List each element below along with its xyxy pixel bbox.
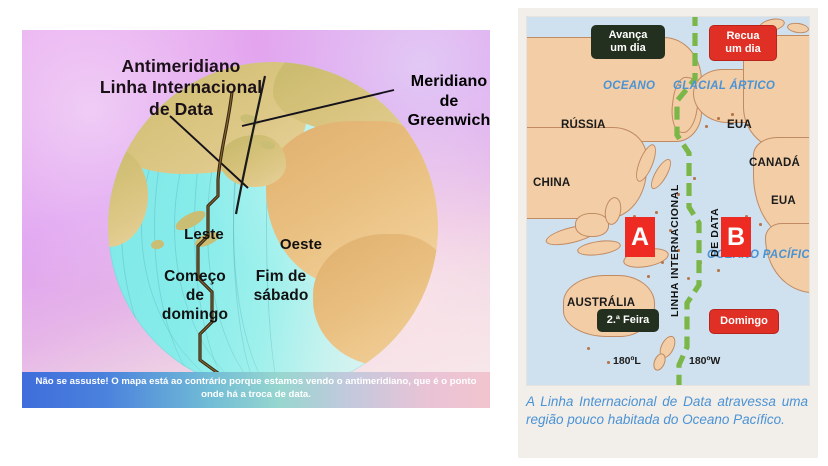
label-sunday-begins-line1: Começo bbox=[150, 268, 240, 287]
label-country-australia: AUSTRÁLIA bbox=[567, 297, 635, 309]
label-greenwich-line2: de bbox=[393, 92, 490, 112]
label-sunday-begins: Começo de domingo bbox=[150, 268, 240, 325]
label-dateline-vertical-1: LINHA INTERNACIONAL bbox=[669, 184, 681, 317]
label-saturday-ends-line2: sábado bbox=[238, 287, 324, 306]
label-arctic-ocean-1: OCEANO bbox=[603, 80, 655, 92]
marker-a: A bbox=[625, 217, 655, 257]
marker-b: B bbox=[721, 217, 751, 257]
label-country-usa-alaska: EUA bbox=[727, 119, 752, 131]
label-sunday-begins-line2: de bbox=[150, 287, 240, 306]
badge-advance-day: Avança um dia bbox=[591, 25, 665, 59]
label-country-china: CHINA bbox=[533, 177, 570, 189]
label-east: Leste bbox=[174, 226, 234, 244]
label-saturday-ends-line1: Fim de bbox=[238, 268, 324, 287]
badge-sunday-label: Domingo bbox=[717, 315, 771, 328]
label-antimeridian: Antimeridiano Linha Internacional de Dat… bbox=[66, 56, 296, 120]
label-greenwich-line1: Meridiano bbox=[393, 72, 490, 92]
label-country-canada: CANADÁ bbox=[749, 157, 800, 169]
label-country-usa-mainland: EUA bbox=[771, 195, 796, 207]
badge-retreat-day-line1: Recua bbox=[717, 30, 769, 43]
label-arctic-ocean-2: GLACIAL ÁRTICO bbox=[673, 80, 775, 92]
label-dateline-vertical-2: DE DATA bbox=[709, 208, 721, 257]
left-panel-caption: Não se assuste! O mapa está ao contrário… bbox=[22, 372, 490, 408]
badge-advance-day-line1: Avança bbox=[598, 29, 658, 42]
badge-monday: 2.ª Feira bbox=[597, 309, 659, 332]
badge-advance-day-line2: um dia bbox=[598, 42, 658, 55]
label-greenwich-line3: Greenwich bbox=[393, 111, 490, 131]
pacific-map: Avança um dia Recua um dia 2.ª Feira Dom… bbox=[526, 16, 810, 386]
landmass-peninsula bbox=[220, 135, 286, 188]
badge-sunday: Domingo bbox=[709, 309, 779, 334]
label-west: Oeste bbox=[271, 236, 331, 254]
label-antimeridian-line3: de Data bbox=[66, 99, 296, 120]
label-coord-180-east: 180ºL bbox=[613, 355, 641, 367]
right-panel-caption: A Linha Internacional de Data atravessa … bbox=[526, 393, 808, 429]
label-coord-180-west: 180ºW bbox=[689, 355, 720, 367]
badge-retreat-day: Recua um dia bbox=[709, 25, 777, 61]
label-sunday-begins-line3: domingo bbox=[150, 306, 240, 325]
label-country-russia: RÚSSIA bbox=[561, 119, 606, 131]
label-antimeridian-line1: Antimeridiano bbox=[66, 56, 296, 77]
label-greenwich-meridian: Meridiano de Greenwich bbox=[393, 72, 490, 131]
badge-monday-label: 2.ª Feira bbox=[604, 314, 652, 327]
pacific-map-panel: Avança um dia Recua um dia 2.ª Feira Dom… bbox=[518, 8, 818, 458]
label-antimeridian-line2: Linha Internacional bbox=[66, 77, 296, 98]
globe-illustration-panel: Antimeridiano Linha Internacional de Dat… bbox=[22, 30, 490, 408]
badge-retreat-day-line2: um dia bbox=[717, 43, 769, 56]
label-saturday-ends: Fim de sábado bbox=[238, 268, 324, 306]
